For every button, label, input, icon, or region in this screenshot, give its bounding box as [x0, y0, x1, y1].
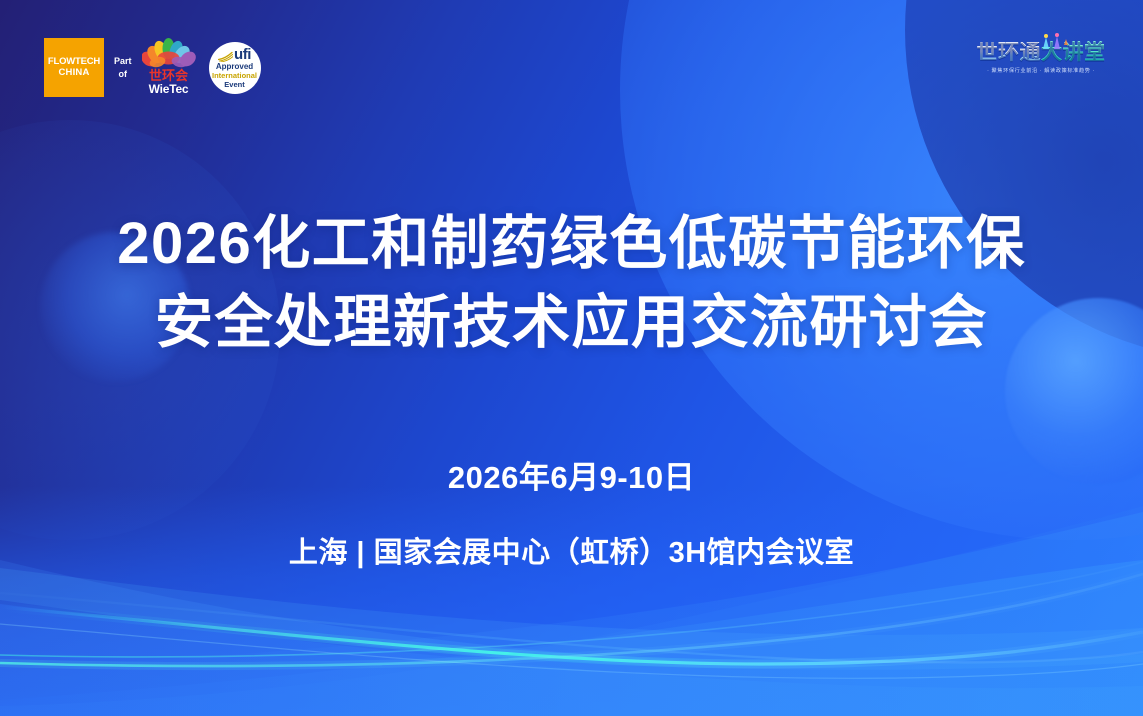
sparkle-icon — [1035, 33, 1069, 51]
event-title: 2026化工和制药绿色低碳节能环保 安全处理新技术应用交流研讨会 — [0, 204, 1143, 363]
part-of-line1: Part — [114, 55, 132, 67]
ufi-word: ufi — [234, 47, 251, 62]
part-of-line2: of — [119, 68, 128, 80]
ufi-approved-event-badge[interactable]: ufi Approved International Event — [209, 42, 261, 94]
flowtech-logo-line1: FLOWTECH — [48, 57, 100, 68]
shihuantong-lecture-logo[interactable]: 世环通大讲堂 · 聚焦环保行业前沿 · 解读政策标准趋势 · — [981, 42, 1101, 74]
event-title-line-2: 安全处理新技术应用交流研讨会 — [0, 283, 1143, 362]
part-of-label: Part of — [114, 55, 132, 79]
event-poster: FLOWTECH CHINA Part of 世环会 WieTec — [0, 0, 1143, 716]
channel-logo-subtitle: · 聚焦环保行业前沿 · 解读政策标准趋势 · — [987, 67, 1095, 74]
flowtech-china-logo[interactable]: FLOWTECH CHINA — [44, 38, 104, 97]
flowtech-logo-line2: CHINA — [58, 68, 89, 79]
wietec-logo[interactable]: 世环会 WieTec — [142, 38, 196, 97]
wietec-chinese-name: 世环会 — [149, 69, 188, 83]
wietec-english-name: WieTec — [149, 83, 189, 97]
sponsor-logo-row: FLOWTECH CHINA Part of 世环会 WieTec — [44, 38, 261, 97]
channel-logo-part-a: 世环通 — [977, 41, 1042, 64]
event-venue: 上海 | 国家会展中心（虹桥）3H馆内会议室 — [0, 529, 1143, 571]
ufi-international-label: International — [212, 72, 257, 80]
ufi-wordmark: ufi — [218, 47, 251, 62]
lotus-icon — [142, 38, 196, 68]
ufi-event-label: Event — [224, 81, 244, 89]
event-date: 2026年6月9-10日 — [0, 452, 1143, 497]
ufi-approved-label: Approved — [216, 63, 253, 71]
event-title-line-1: 2026化工和制药绿色低碳节能环保 — [0, 204, 1143, 283]
ufi-swoosh-icon — [218, 51, 233, 62]
